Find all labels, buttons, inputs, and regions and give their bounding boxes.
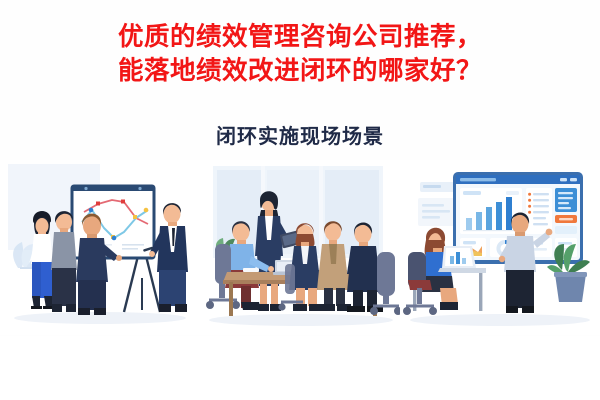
- headline-line-1: 优质的绩效管理咨询公司推荐，: [118, 22, 482, 52]
- illustration-panel-whiteboard-review: [0, 160, 200, 335]
- illustration-panel-meeting-table: [197, 160, 405, 335]
- footer-whitespace: [0, 336, 600, 400]
- illustration-panel-dashboard-review: [400, 160, 600, 335]
- subtitle: 闭环实施现场场景: [0, 120, 600, 149]
- background-card-icon: [418, 182, 456, 226]
- promo-banner: 优质的绩效管理咨询公司推荐， 能落地绩效改进闭环的哪家好？ 闭环实施现场场景: [0, 0, 600, 400]
- headline-line-2: 能落地绩效改进闭环的哪家好？: [0, 54, 600, 88]
- illustration-band: [0, 160, 600, 335]
- page-title: 优质的绩效管理咨询公司推荐， 能落地绩效改进闭环的哪家好？: [0, 20, 600, 88]
